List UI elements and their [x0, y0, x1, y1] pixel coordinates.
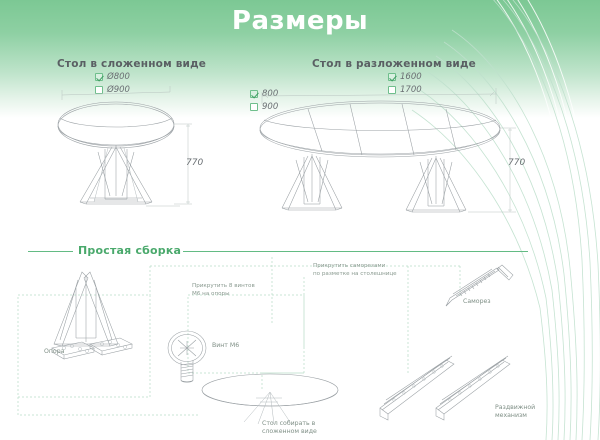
page-title: Размеры — [0, 6, 600, 36]
unfolded-table-drawing — [250, 78, 520, 228]
assembly-note-fold-state: Стол собирать в сложенном виде — [262, 420, 317, 437]
note-line-2: по разметке на столешнице — [313, 271, 397, 279]
note-line-2: М6 на опоры — [192, 291, 255, 299]
assembly-note-self-tapping: Прикрутить саморезами по разметке на сто… — [313, 263, 397, 278]
assembly-note-screws-m6: Прикрутить 8 винтов М6 на опоры — [192, 283, 255, 298]
assembled-table-underside-drawing — [198, 368, 358, 428]
part-label-screw: Саморез — [463, 298, 491, 306]
part-label-sliding-mechanism: Раздвижной механизм — [495, 404, 535, 421]
part-label-support: Опора — [44, 348, 64, 356]
folded-height-label: 770 — [186, 158, 203, 168]
band-line-left — [28, 251, 73, 252]
infographic-page: Размеры Стол в сложенном виде Стол в раз… — [0, 0, 600, 440]
unfolded-height-label: 770 — [508, 158, 525, 168]
label-line-1: Раздвижной — [495, 404, 535, 412]
label-line-2: механизм — [495, 412, 535, 420]
note-line-1: Прикрутить 8 винтов — [192, 283, 255, 291]
folded-table-drawing — [50, 78, 250, 228]
note-line-1: Стол собирать в — [262, 420, 317, 428]
section-title-unfolded: Стол в разложенном виде — [312, 58, 476, 70]
section-title-folded: Стол в сложенном виде — [57, 58, 206, 70]
note-line-2: сложенном виде — [262, 428, 317, 436]
band-line-right — [183, 251, 528, 252]
support-part-drawing — [38, 268, 148, 378]
part-label-bolt: Винт М6 — [212, 342, 239, 350]
note-line-1: Прикрутить саморезами — [313, 263, 397, 271]
